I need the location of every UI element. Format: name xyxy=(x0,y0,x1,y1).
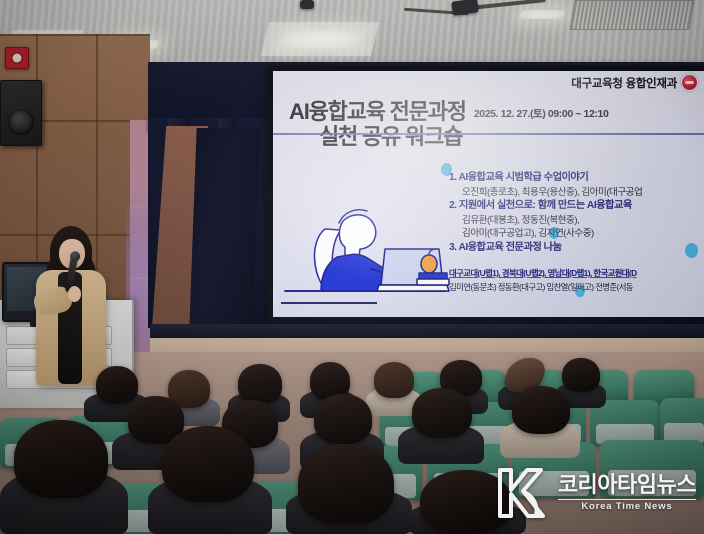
agenda-presenters-1: 오진희(종로초), 최용우(용산중), 김아미(대구공업 xyxy=(449,186,704,200)
ceiling-projector xyxy=(300,0,314,9)
slide-datetime: 2025. 12. 27.(토) 09:00 ~ 12:10 xyxy=(474,106,609,124)
footer-line-2: 김미연(동문초) 정동환(대구고) 임찬열(일마고) 전병준(서동 xyxy=(449,281,704,293)
korea-time-news-logo-icon xyxy=(494,466,552,520)
agenda-item-1: 1. AI융합교육 시범학급 수업이야기 xyxy=(449,171,704,186)
woman-at-laptop-illustration xyxy=(279,199,451,303)
attendee-head xyxy=(412,388,472,438)
agenda-item-2: 2. 지원에서 실천으로: 함께 만드는 AI융합교육 xyxy=(449,199,704,214)
attendee-head xyxy=(562,358,600,392)
fire-alarm-box xyxy=(5,47,29,69)
attendee-head xyxy=(162,426,254,502)
illustration-svg xyxy=(279,199,451,303)
slide-title-line2: 실천 공유 워크숍 xyxy=(279,125,704,149)
attendee-head xyxy=(96,366,138,404)
ceiling-light xyxy=(280,29,364,49)
attendee-head xyxy=(314,394,372,444)
ceiling-vent xyxy=(569,0,694,30)
loudspeaker xyxy=(0,80,42,146)
department-header: 대구교육청 융합인재과 xyxy=(563,73,702,93)
footer-line-1: 대구교대(U랩1), 경북대(U랩2), 영남대(D랩1), 한국교원대(D xyxy=(449,267,704,279)
attendee-head xyxy=(14,420,108,498)
daegu-education-office-logo-icon xyxy=(681,74,698,91)
presenter-hand xyxy=(68,286,81,302)
watermark-text: 코리아타임뉴스 Korea Time News xyxy=(558,474,696,512)
slide-bottom-rule xyxy=(281,302,377,304)
attendee-head xyxy=(298,444,394,524)
agenda-presenters-2a: 김유환(대봉초), 정동진(복현중), xyxy=(449,214,704,228)
title-underline xyxy=(273,133,704,135)
slide-footer-block: 대구교대(U랩1), 경북대(U랩2), 영남대(D랩1), 한국교원대(D 김… xyxy=(449,267,704,293)
presenter-person xyxy=(28,226,114,386)
slide-title-block: AI융합교육 전문과정 2025. 12. 27.(토) 09:00 ~ 12:… xyxy=(279,101,704,149)
speaker-cone-icon xyxy=(8,109,34,135)
watermark-brand-english: Korea Time News xyxy=(558,499,696,512)
attendee-head xyxy=(238,364,282,404)
presentation-slide: 대구교육청 융합인재과 AI융합교육 전문과정 2025. 12. 27.(토)… xyxy=(273,71,704,317)
watermark-brand-korean: 코리아타임뉴스 xyxy=(558,474,696,496)
seat xyxy=(660,398,704,446)
agenda-presenters-2b: 김아미(대구공업고), 김지연(사수중) xyxy=(449,227,704,241)
slide-title-line1: AI융합교육 전문과정 xyxy=(279,101,466,124)
agenda-item-3: 3. AI융합교육 전문과정 나눔 xyxy=(449,241,704,256)
ceiling-light xyxy=(519,10,566,19)
attendee-head xyxy=(374,362,414,398)
attendee-head xyxy=(512,386,570,434)
slide-agenda-list: 1. AI융합교육 시범학급 수업이야기 오진희(종로초), 최용우(용산중),… xyxy=(449,171,704,256)
screenshot-scene: 대구교육청 융합인재과 AI융합교육 전문과정 2025. 12. 27.(토)… xyxy=(0,0,704,534)
watermark: 코리아타임뉴스 Korea Time News xyxy=(494,466,696,520)
alarm-bell-icon xyxy=(13,54,22,63)
department-label: 대구교육청 융합인재과 xyxy=(571,75,677,91)
